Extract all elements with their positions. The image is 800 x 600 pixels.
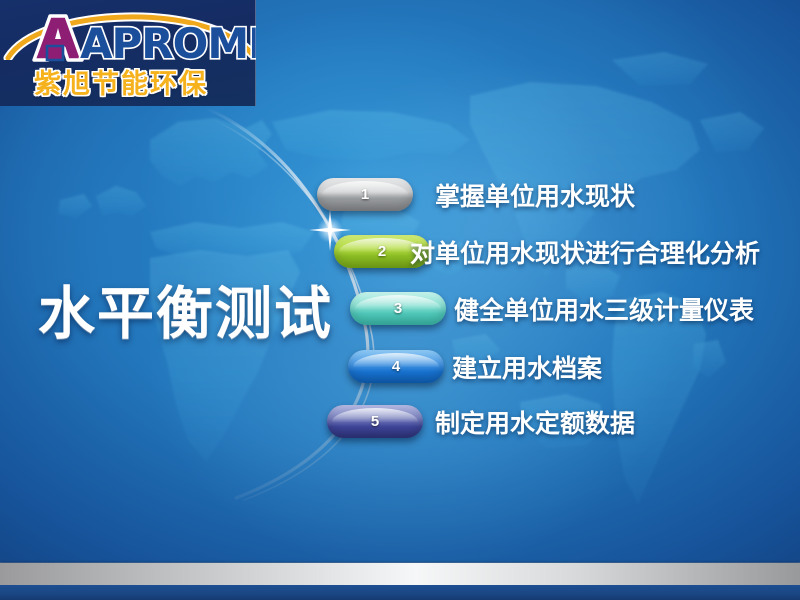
- logo-text-cn: 紫旭节能环保: [34, 62, 208, 101]
- step-label: 对单位用水现状进行合理化分析: [410, 234, 760, 270]
- company-logo-band: APROMEN 紫旭节能环保: [0, 0, 256, 106]
- logo-wordmark-apromen: APROMEN: [6, 8, 256, 64]
- step-label: 健全单位用水三级计量仪表: [454, 291, 754, 327]
- step-pill-3[interactable]: 3: [350, 292, 446, 325]
- step-number: 1: [317, 178, 413, 211]
- step-number: 2: [334, 235, 430, 268]
- step-number: 5: [327, 405, 423, 438]
- step-pill-5[interactable]: 5: [327, 405, 423, 438]
- logo-text-en: APROMEN: [80, 19, 256, 64]
- slide-canvas: APROMEN 紫旭节能环保 水平衡测试 1 掌握单位用水现状 2 对单位用水现…: [0, 0, 800, 600]
- step-pill-2[interactable]: 2: [334, 235, 430, 268]
- step-pill-1[interactable]: 1: [317, 178, 413, 211]
- step-label: 建立用水档案: [452, 349, 602, 385]
- footer-silver-bar: [0, 563, 800, 585]
- step-label: 制定用水定额数据: [435, 404, 635, 440]
- step-number: 4: [348, 350, 444, 383]
- step-label: 掌握单位用水现状: [435, 177, 635, 213]
- step-pill-4[interactable]: 4: [348, 350, 444, 383]
- step-number: 3: [350, 292, 446, 325]
- page-title: 水平衡测试: [38, 268, 333, 350]
- footer-blue-bar: [0, 585, 800, 600]
